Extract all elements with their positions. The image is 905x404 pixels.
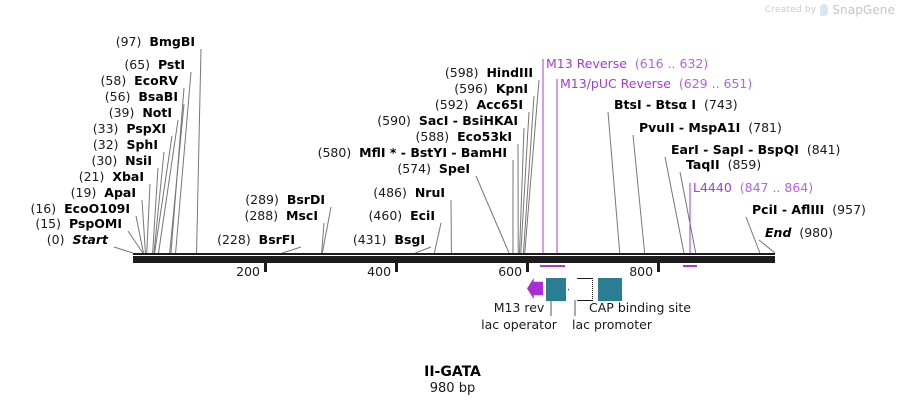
enzyme-leader-line — [476, 176, 509, 253]
enzyme-name: BmgBI — [149, 34, 195, 49]
enzyme-label[interactable]: (486) NruI — [0, 186, 445, 199]
enzyme-separator: - — [744, 142, 758, 157]
enzyme-name: BsiHKAI — [462, 113, 518, 128]
enzyme-position: (97) — [116, 34, 142, 49]
enzyme-leader-line — [525, 80, 539, 253]
enzyme-name: HindIII — [486, 65, 533, 80]
axis-tick-label: 400 — [333, 264, 391, 279]
feature-name: M13/pUC Reverse — [560, 76, 671, 91]
feature-range: (847 .. 864) — [740, 180, 813, 195]
enzyme-label[interactable]: TaqII (859) — [686, 158, 761, 171]
sequence-map: Created by SnapGene (97) BmgBI(65) PstI(… — [0, 0, 905, 404]
enzyme-label[interactable]: (596) KpnI — [0, 82, 528, 95]
enzyme-leader-line — [520, 128, 524, 253]
feature-range: (629 .. 651) — [679, 76, 752, 91]
axis-tick-label: 600 — [464, 264, 522, 279]
enzyme-name: BtsI — [614, 97, 642, 112]
enzyme-name: EciI — [410, 208, 435, 223]
enzyme-leader-line — [521, 112, 529, 253]
enzyme-label[interactable]: (598) HindIII — [0, 66, 533, 79]
enzyme-leader-line — [759, 240, 775, 253]
page-title: II-GATA — [0, 364, 905, 380]
enzyme-label[interactable]: BtsI - Btsα I (743) — [614, 98, 738, 111]
enzyme-label[interactable]: (97) BmgBI — [0, 35, 195, 48]
enzyme-leader-line — [746, 217, 760, 253]
enzyme-label[interactable]: (588) Eco53kI — [0, 130, 512, 143]
feature-label[interactable]: M13 Reverse (616 .. 632) — [546, 57, 708, 70]
enzyme-name: SacI — [419, 113, 449, 128]
enzyme-leader-line — [608, 112, 620, 253]
enzyme-position: (460) — [369, 208, 403, 223]
enzyme-name: PvuII — [639, 120, 675, 135]
enzyme-separator: - — [699, 142, 713, 157]
enzyme-name: BstYI — [410, 145, 447, 160]
snapgene-logo-icon — [820, 4, 828, 16]
enzyme-name: PciI — [752, 202, 778, 217]
enzyme-position: (598) — [445, 65, 479, 80]
enzyme-name: Btsα I — [656, 97, 697, 112]
axis-tick — [264, 263, 267, 272]
feature-name: M13 Reverse — [546, 56, 627, 71]
enzyme-name: AflIII — [791, 202, 824, 217]
enzyme-position: (743) — [704, 97, 738, 112]
watermark-prefix: Created by — [765, 5, 817, 15]
enzyme-name: MspA1I — [688, 120, 740, 135]
enzyme-separator: - — [778, 202, 792, 217]
enzyme-label[interactable]: PciI - AflIII (957) — [752, 203, 866, 216]
enzyme-name: End — [765, 225, 791, 240]
enzyme-label[interactable]: (590) SacI - BsiHKAI — [0, 114, 518, 127]
enzyme-name: EarI — [671, 142, 699, 157]
enzyme-leader-line — [114, 247, 133, 253]
enzyme-position: (486) — [373, 185, 407, 200]
enzyme-separator: - — [675, 120, 689, 135]
enzyme-position: (592) — [435, 97, 469, 112]
enzyme-name: NruI — [415, 185, 445, 200]
enzyme-leader-line — [434, 223, 441, 253]
enzyme-separator: - — [642, 97, 656, 112]
axis-bar — [133, 256, 775, 263]
feature-caption[interactable]: lac promoter — [522, 317, 702, 332]
watermark-brand: SnapGene — [832, 3, 895, 17]
enzyme-position: (580) — [318, 145, 352, 160]
snapgene-watermark: Created by SnapGene — [765, 3, 895, 17]
enzyme-position: (431) — [353, 232, 387, 247]
enzyme-name: TaqII — [686, 157, 720, 172]
enzyme-label[interactable]: (592) Acc65I — [0, 98, 523, 111]
enzyme-name: SpeI — [439, 161, 470, 176]
feature-label[interactable]: M13/pUC Reverse (629 .. 651) — [560, 77, 752, 90]
enzyme-separator: - — [396, 145, 410, 160]
enzyme-label[interactable]: (580) MflI * - BstYI - BamHI — [0, 146, 507, 159]
enzyme-separator: - — [448, 113, 462, 128]
enzyme-label[interactable]: End (980) — [765, 226, 833, 239]
enzyme-leader-line — [523, 96, 534, 253]
enzyme-name: SapI — [713, 142, 744, 157]
axis-tick-label: 800 — [595, 264, 653, 279]
enzyme-name: MflI * — [359, 145, 396, 160]
axis-tick — [526, 263, 529, 272]
feature-glyph-body — [577, 278, 593, 301]
axis-bar-top — [133, 253, 775, 255]
enzyme-name: Acc65I — [476, 97, 523, 112]
enzyme-label[interactable]: (574) SpeI — [0, 162, 470, 175]
feature-range: (616 .. 632) — [635, 56, 708, 71]
enzyme-name: KpnI — [496, 81, 528, 96]
feature-name: L4440 — [693, 180, 732, 195]
enzyme-position: (841) — [807, 142, 841, 157]
enzyme-position: (588) — [416, 129, 450, 144]
enzyme-position: (590) — [377, 113, 411, 128]
feature-caption[interactable]: CAP binding site — [550, 300, 730, 315]
enzyme-leader-line — [665, 157, 684, 253]
enzyme-label[interactable]: (460) EciI — [0, 209, 435, 222]
feature-label[interactable]: L4440 (847 .. 864) — [693, 181, 813, 194]
enzyme-label[interactable]: (431) BsgI — [0, 233, 425, 246]
enzyme-position: (859) — [728, 157, 762, 172]
enzyme-label[interactable]: PvuII - MspA1I (781) — [639, 121, 782, 134]
axis-tick — [395, 263, 398, 272]
enzyme-separator: - — [447, 145, 461, 160]
enzyme-position: (574) — [397, 161, 431, 176]
feature-glyph-m13-rev[interactable] — [527, 278, 543, 299]
axis-tick — [657, 263, 660, 272]
enzyme-leader-line — [633, 135, 645, 253]
feature-glyph-lac-operator[interactable] — [546, 278, 566, 301]
enzyme-name: Eco53kI — [457, 129, 512, 144]
enzyme-name: BsgI — [394, 232, 425, 247]
axis-tick-label: 200 — [202, 264, 260, 279]
sequence-length: 980 bp — [0, 381, 905, 396]
enzyme-position: (781) — [748, 120, 782, 135]
enzyme-position: (980) — [799, 225, 833, 240]
enzyme-position: (596) — [454, 81, 488, 96]
feature-glyph-cap-binding-site[interactable] — [598, 278, 622, 301]
enzyme-name: BamHI — [461, 145, 507, 160]
enzyme-position: (957) — [832, 202, 866, 217]
enzyme-label[interactable]: EarI - SapI - BspQI (841) — [671, 143, 840, 156]
enzyme-name: BspQI — [758, 142, 799, 157]
